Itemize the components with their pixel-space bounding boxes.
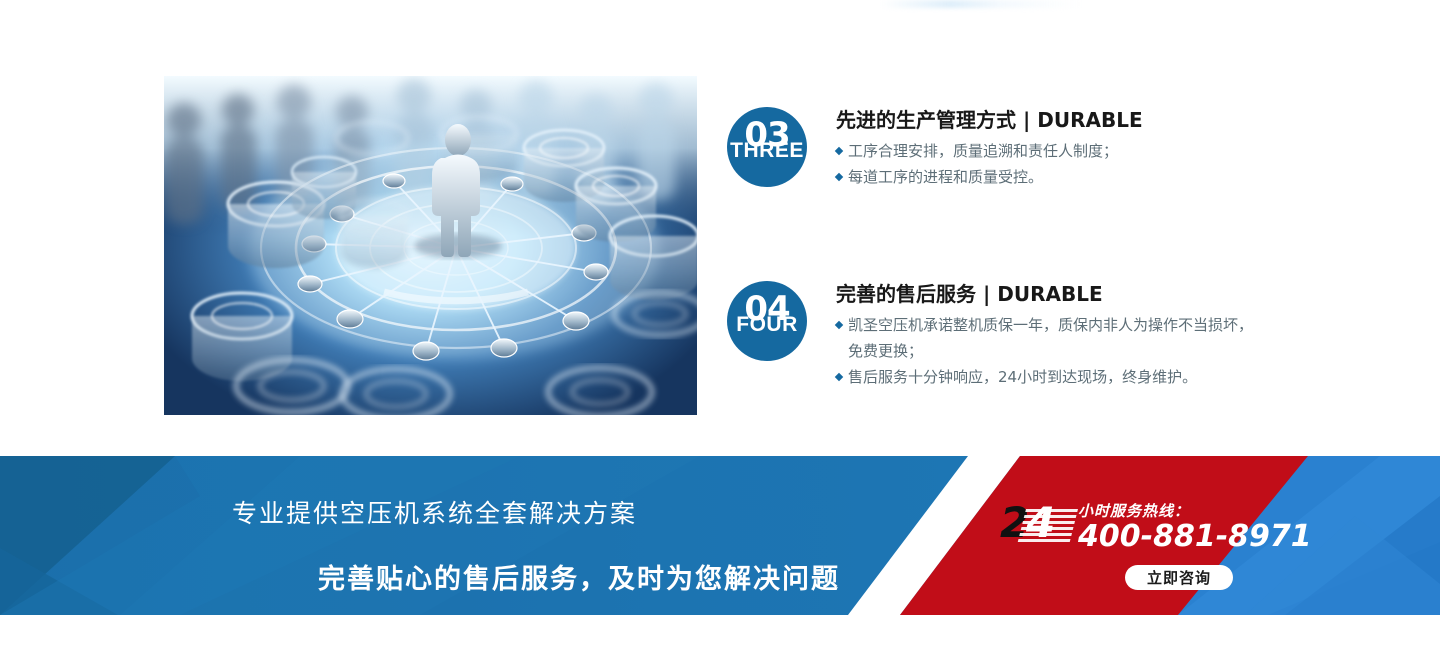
feature-bullet-text: 凯圣空压机承诺整机质保一年，质保内非人为操作不当损坏，免费更换； <box>848 316 1253 360</box>
network-concept-illustration <box>164 76 697 415</box>
feature-bullet: 凯圣空压机承诺整机质保一年，质保内非人为操作不当损坏，免费更换； <box>836 312 1253 364</box>
consult-now-button[interactable]: 立即咨询 <box>1125 565 1233 590</box>
page-root: 03 THREE 先进的生产管理方式 | DURABLE 工序合理安排，质量追溯… <box>0 0 1440 663</box>
diamond-bullet-icon <box>835 321 843 329</box>
feature-bullet: 售后服务十分钟响应，24小时到达现场，终身维护。 <box>836 364 1253 390</box>
feature-bullet-list: 凯圣空压机承诺整机质保一年，质保内非人为操作不当损坏，免费更换； 售后服务十分钟… <box>836 312 1253 390</box>
step-badge-03: 03 THREE <box>727 107 807 187</box>
step-word: THREE <box>727 139 807 163</box>
diamond-bullet-icon <box>835 173 843 181</box>
feature-block-04: 04 FOUR 完善的售后服务 | DURABLE 凯圣空压机承诺整机质保一年，… <box>727 281 1253 390</box>
feature-bullet-text: 售后服务十分钟响应，24小时到达现场，终身维护。 <box>848 368 1197 386</box>
feature-bullet: 每道工序的进程和质量受控。 <box>836 164 1143 190</box>
feature-title: 先进的生产管理方式 | DURABLE <box>836 107 1143 133</box>
24-hours-logo: 2 4 <box>1000 502 1076 548</box>
feature-bullet-text: 工序合理安排，质量追溯和责任人制度； <box>848 142 1118 160</box>
hours-digit-4: 4 <box>1026 502 1055 544</box>
feature-bullet-list: 工序合理安排，质量追溯和责任人制度； 每道工序的进程和质量受控。 <box>836 138 1143 190</box>
hours-digit-2: 2 <box>1000 502 1029 544</box>
feature-block-03: 03 THREE 先进的生产管理方式 | DURABLE 工序合理安排，质量追溯… <box>727 107 1143 190</box>
step-badge-04: 04 FOUR <box>727 281 807 361</box>
feature-title: 完善的售后服务 | DURABLE <box>836 281 1253 307</box>
feature-bullet-text: 每道工序的进程和质量受控。 <box>848 168 1043 186</box>
feature-bullet: 工序合理安排，质量追溯和责任人制度； <box>836 138 1143 164</box>
diamond-bullet-icon <box>835 373 843 381</box>
feature-photo <box>164 76 697 415</box>
feature-text-04: 完善的售后服务 | DURABLE 凯圣空压机承诺整机质保一年，质保内非人为操作… <box>836 281 1253 390</box>
top-gradient-remnant <box>880 0 1080 8</box>
feature-text-03: 先进的生产管理方式 | DURABLE 工序合理安排，质量追溯和责任人制度； 每… <box>836 107 1143 190</box>
step-word: FOUR <box>727 313 807 337</box>
diamond-bullet-icon <box>835 147 843 155</box>
hotline-label: 小时服务热线： <box>1078 500 1190 521</box>
hotline-number[interactable]: 400-881-8971 <box>1078 520 1312 554</box>
